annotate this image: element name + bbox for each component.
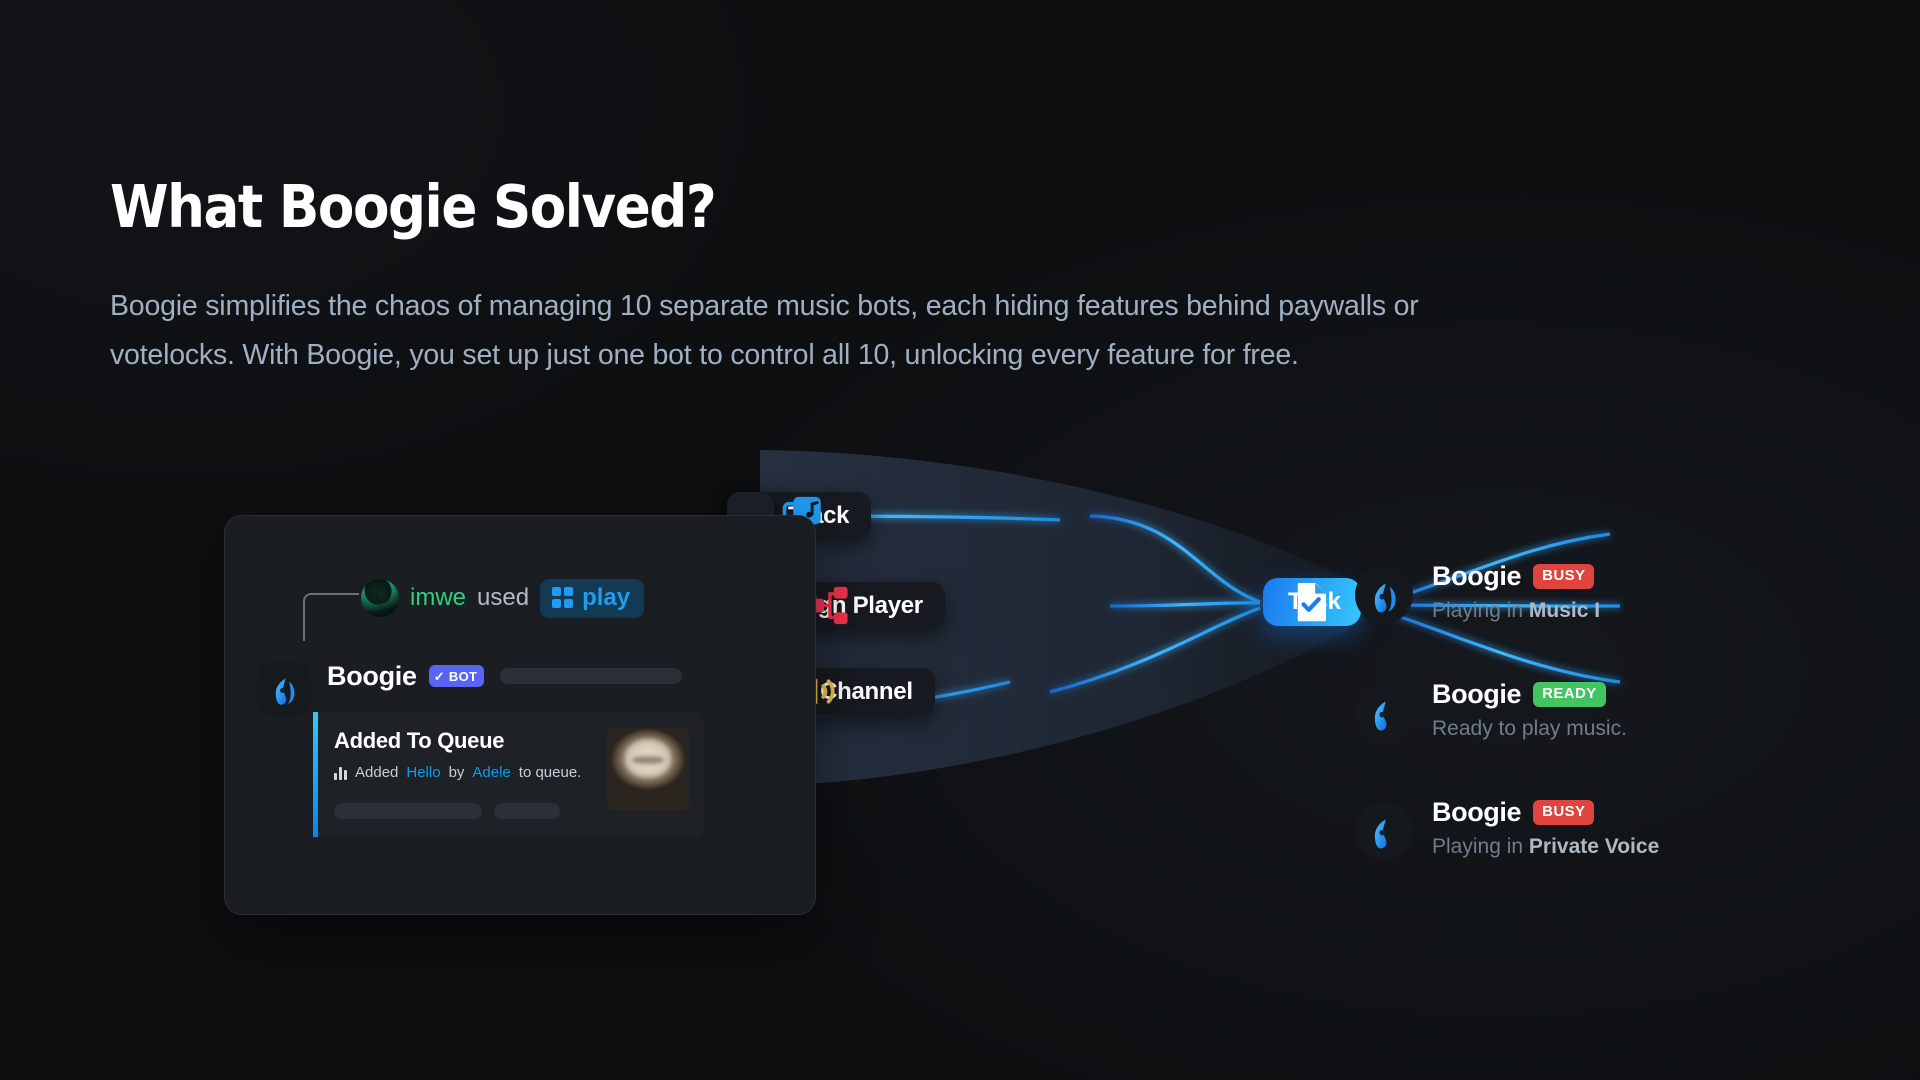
status-description: Playing in Music I: [1432, 599, 1600, 623]
flow-node-task[interactable]: Task: [1263, 578, 1361, 626]
boogie-logo-icon: [266, 671, 302, 707]
status-description: Playing in Private Voice: [1432, 835, 1659, 859]
discord-message-card: imwe used play Boogie: [224, 515, 816, 915]
boogie-logo-icon: [1364, 811, 1404, 851]
placeholder-bar: [494, 803, 560, 819]
bot-display-name: Boogie: [327, 661, 417, 692]
embed-artist-link[interactable]: Adele: [472, 764, 510, 781]
page-subtitle: Boogie simplifies the chaos of managing …: [110, 282, 1470, 380]
status-sub-target: Private Voice: [1529, 835, 1659, 858]
bot-status-list: Boogie BUSY Playing in Music I Boogie RE…: [1355, 560, 1659, 914]
status-bot-name: Boogie: [1432, 797, 1521, 828]
placeholder-bar: [334, 803, 482, 819]
status-sub-target: Music I: [1529, 599, 1600, 622]
reply-connector-line: [303, 593, 359, 641]
command-reply-row: imwe used play: [303, 581, 644, 615]
flow-diagram: Track Assign Player Voice Channel: [760, 430, 1920, 990]
status-sub-prefix: Ready to play music.: [1432, 717, 1627, 740]
timestamp-placeholder: [500, 668, 682, 684]
embed-description: Added Hello by Adele to queue.: [334, 764, 595, 781]
reply-action-label: used: [477, 584, 529, 612]
embed-title: Added To Queue: [334, 728, 595, 754]
bot-status-item[interactable]: Boogie READY Ready to play music.: [1355, 678, 1659, 760]
bot-badge-label: BOT: [449, 669, 477, 684]
status-bot-name: Boogie: [1432, 561, 1521, 592]
boogie-logo-avatar: [1355, 684, 1413, 742]
status-badge: READY: [1533, 682, 1606, 707]
embed-footer-placeholders: [334, 803, 595, 819]
queue-embed: Added To Queue Added Hello by Adele to q…: [313, 712, 703, 837]
bot-status-item[interactable]: Boogie BUSY Playing in Music I: [1355, 560, 1659, 642]
boogie-logo-icon: [1364, 575, 1404, 615]
status-description: Ready to play music.: [1432, 717, 1627, 741]
boogie-logo-avatar: [257, 662, 311, 716]
embed-desc-by: by: [449, 764, 465, 781]
status-badge: BUSY: [1533, 800, 1594, 825]
boogie-logo-avatar: [1355, 802, 1413, 860]
status-sub-prefix: Playing in: [1432, 835, 1523, 858]
bot-message-row: Boogie ✓ BOT: [257, 662, 682, 716]
bot-verified-badge: ✓ BOT: [429, 665, 485, 687]
grid-apps-icon: [552, 587, 573, 608]
boogie-logo-avatar: [1355, 566, 1413, 624]
embed-track-link[interactable]: Hello: [406, 764, 440, 781]
embed-desc-suffix: to queue.: [519, 764, 582, 781]
status-bot-name: Boogie: [1432, 679, 1521, 710]
embed-desc-prefix: Added: [355, 764, 398, 781]
check-icon: ✓: [434, 670, 445, 683]
status-badge: BUSY: [1533, 564, 1594, 589]
equalizer-bars-icon: [334, 766, 347, 780]
album-art-thumbnail: [607, 728, 689, 810]
user-avatar: [361, 579, 399, 617]
boogie-logo-icon: [1364, 693, 1404, 733]
slash-command-label: play: [582, 584, 630, 612]
bot-status-item[interactable]: Boogie BUSY Playing in Private Voice: [1355, 796, 1659, 878]
status-sub-prefix: Playing in: [1432, 599, 1523, 622]
reply-username[interactable]: imwe: [410, 584, 466, 612]
page-title: What Boogie Solved?: [110, 172, 715, 241]
slash-command-pill[interactable]: play: [540, 579, 644, 618]
